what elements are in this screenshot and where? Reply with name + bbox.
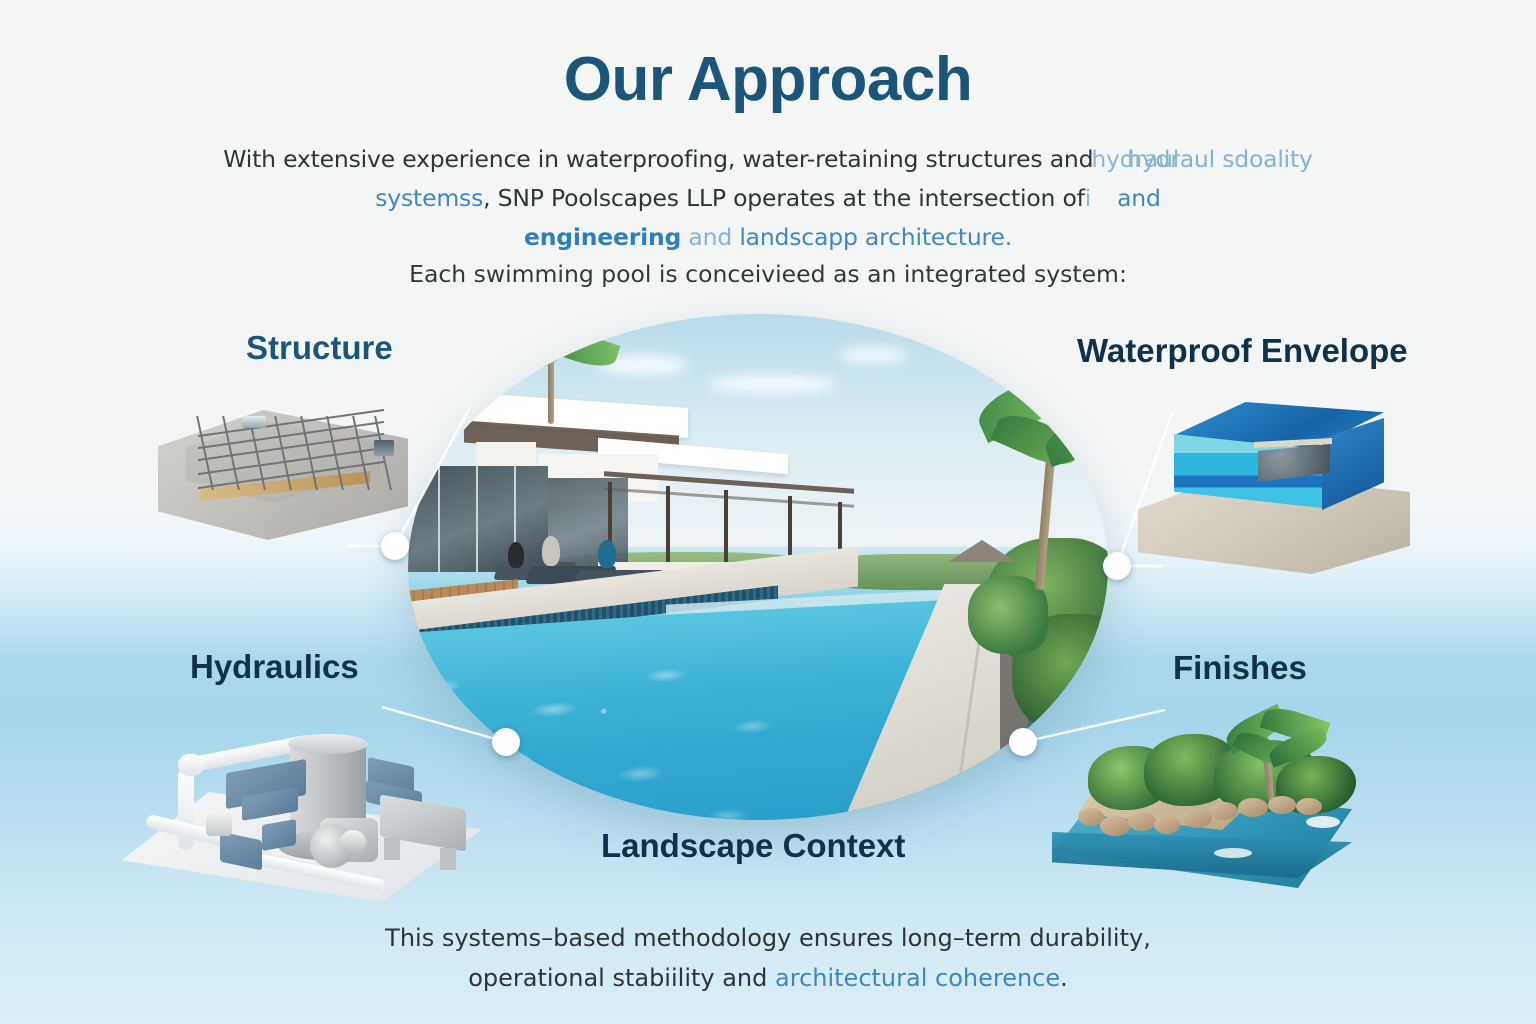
boulder: [1268, 796, 1296, 814]
embedded-fitting: [374, 440, 394, 456]
seated-person: [598, 540, 616, 568]
villa-glass-facade: [548, 478, 628, 570]
small-fitting: [206, 812, 232, 836]
boulder: [1210, 802, 1238, 820]
node-label-waterproof: Waterproof Envelope: [1077, 332, 1408, 370]
node-label-finishes: Finishes: [1173, 649, 1307, 687]
boulder: [1128, 812, 1156, 831]
rebar-cage: [198, 416, 384, 490]
rebar-bar: [198, 447, 384, 475]
intro-line1-overlap-dark: hydraul: [1091, 145, 1179, 173]
waterproof-envelope-image: [1136, 400, 1416, 580]
intro-line2-blue: systemss: [375, 184, 483, 212]
intro-paragraph: With extensive experience in waterproofi…: [203, 140, 1333, 257]
intro-line3-and: and: [688, 223, 732, 251]
boulder: [1154, 816, 1180, 834]
footer-line2-accent: architectural coherence: [775, 964, 1060, 992]
intro-line3-landscape: landscapp architecture: [739, 223, 1004, 251]
hydraulics-image: [122, 706, 502, 906]
node-label-landscape: Landscape Context: [601, 827, 905, 865]
intro-system-line: Each swimming pool is conceivieed as an …: [0, 260, 1536, 288]
seated-person: [508, 542, 524, 568]
skid-foot: [384, 838, 400, 860]
page-title: Our Approach: [0, 44, 1536, 115]
cloud-icon: [838, 348, 908, 362]
rebar-bar: [198, 461, 384, 489]
window-mullion: [476, 466, 478, 572]
finishes-image: [1038, 712, 1368, 892]
white-foam: [1214, 848, 1252, 858]
filter-tank-lid: [288, 734, 368, 754]
window-mullion: [438, 466, 440, 572]
intro-line3-period: .: [1005, 223, 1012, 251]
footer-line2-text: operational stabiility and: [468, 964, 775, 992]
node-dot-waterproof[interactable]: [1103, 552, 1131, 580]
footer-line1: This systems–based methodology ensures l…: [385, 924, 1151, 952]
intro-line2-and: and: [1117, 184, 1161, 212]
boulder: [1100, 816, 1130, 836]
intro-line1-text: With extensive experience in waterproofi…: [223, 145, 1093, 173]
seated-person: [542, 536, 560, 566]
footer-paragraph: This systems–based methodology ensures l…: [0, 918, 1536, 998]
boulder: [1296, 798, 1322, 815]
intro-line2-text: , SNP Poolscapes LLP operates at the int…: [483, 184, 1085, 212]
boulder: [1182, 808, 1212, 828]
approach-infographic: Our Approach With extensive experience i…: [0, 0, 1536, 1024]
node-dot-hydraulics[interactable]: [492, 728, 520, 756]
node-label-hydraulics: Hydraulics: [190, 648, 359, 686]
rebar-bar: [274, 416, 292, 490]
rebar-bar: [196, 416, 214, 490]
node-dot-finishes[interactable]: [1009, 728, 1037, 756]
intro-line3-engineering: engineering: [524, 223, 681, 251]
embedded-fitting: [242, 416, 266, 428]
cloud-icon: [708, 376, 838, 392]
node-dot-structure[interactable]: [381, 532, 409, 560]
skid-foot: [440, 848, 456, 870]
rebar-bar: [300, 416, 318, 490]
node-label-structure: Structure: [246, 329, 393, 367]
intro-line2-ghost: i: [1085, 184, 1091, 212]
boulder: [1238, 798, 1268, 817]
pipe-elbow: [178, 754, 204, 776]
footer-line2-period: .: [1060, 964, 1068, 992]
pump-inlet: [340, 830, 366, 854]
white-foam: [1306, 816, 1340, 828]
